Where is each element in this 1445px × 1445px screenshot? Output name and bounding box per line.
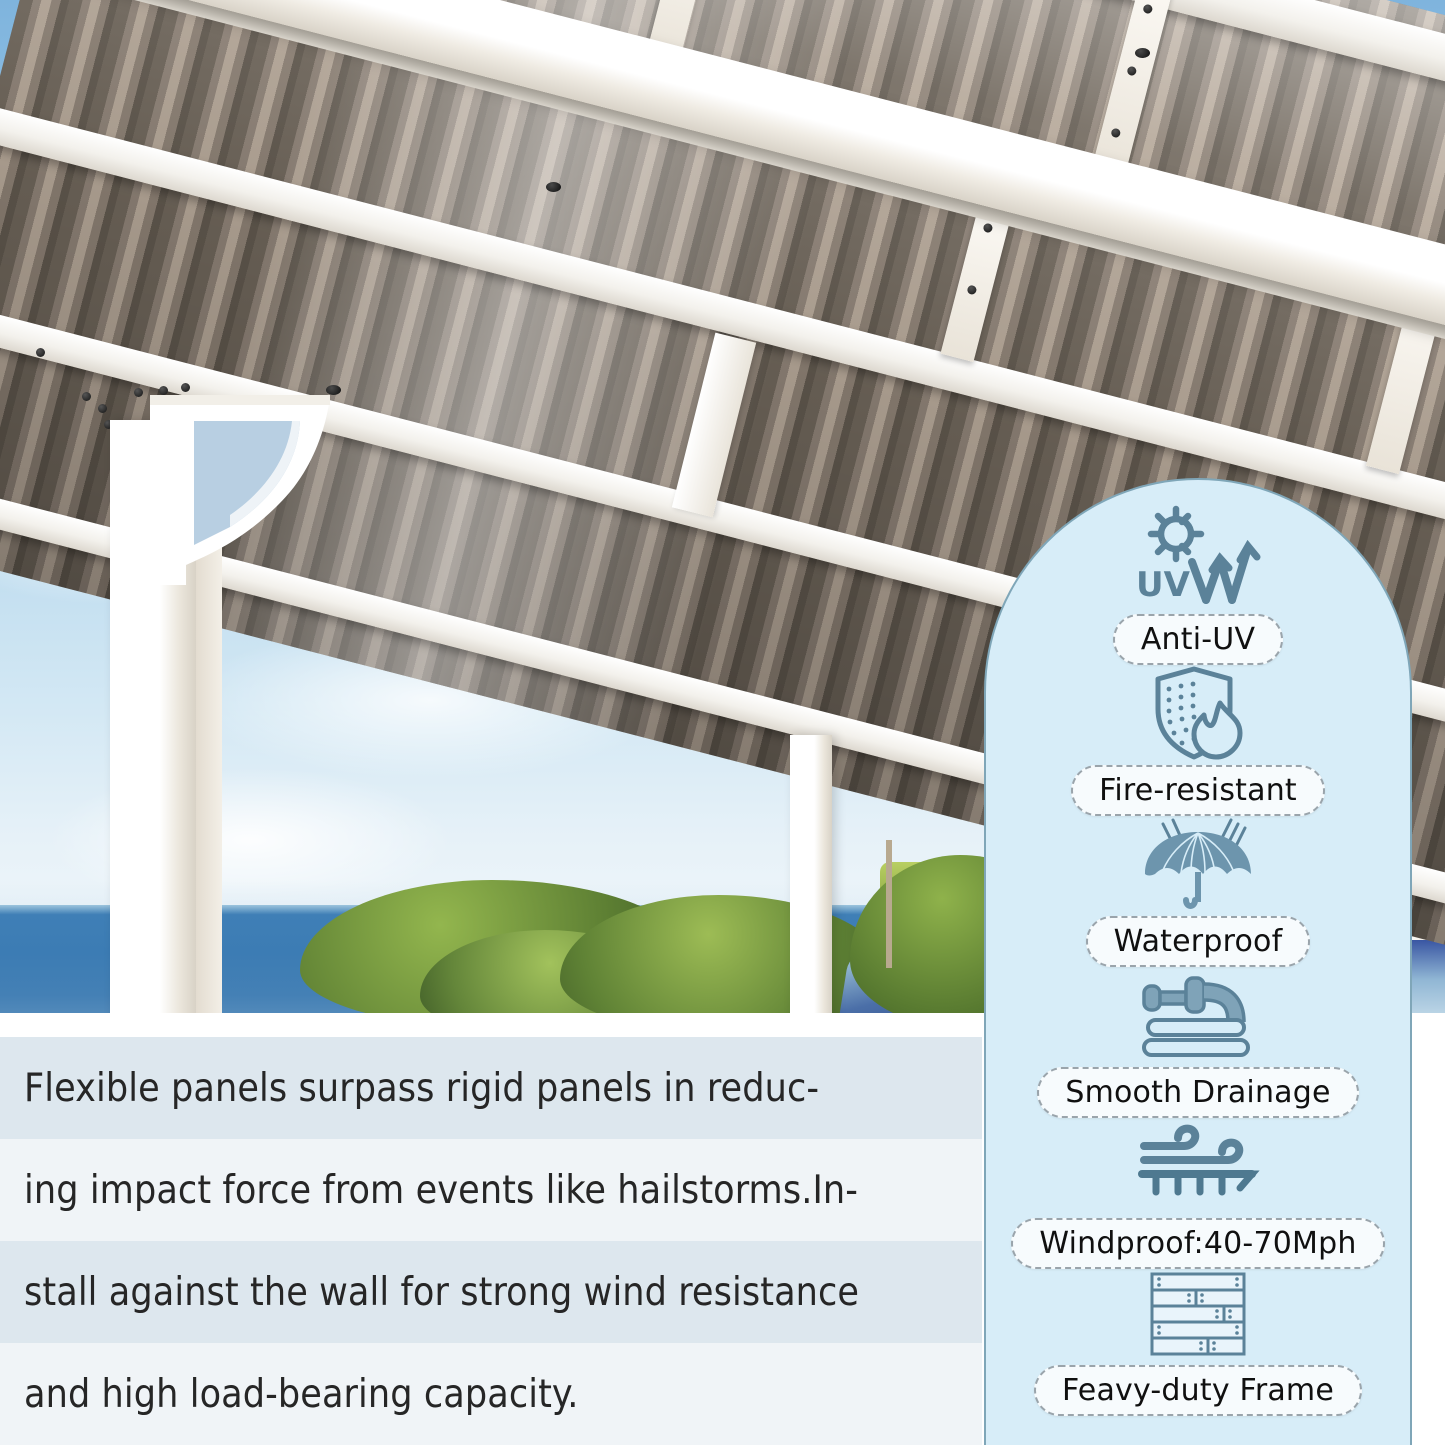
feature-label-pill: Feavy-duty Frame: [1034, 1365, 1362, 1416]
feature-smooth-drainage: Smooth Drainage: [986, 967, 1410, 1118]
feature-fire-resistant: Fire-resistant: [986, 665, 1410, 816]
feature-label: Fire-resistant: [1099, 773, 1297, 808]
feature-label: Feavy-duty Frame: [1062, 1373, 1334, 1408]
fascia-bolt: [82, 392, 91, 401]
description-line-text: Flexible panels surpass rigid panels in …: [24, 1066, 819, 1111]
fascia-bolt: [181, 383, 190, 392]
fascia-bolt: [1135, 48, 1150, 58]
corner-brace: [150, 395, 370, 585]
description-line: Flexible panels surpass rigid panels in …: [0, 1037, 982, 1139]
fire-resistant-shield-flame-icon: [1136, 665, 1260, 761]
description-line: stall against the wall for strong wind r…: [0, 1241, 982, 1343]
heavy-duty-frame-beams-icon: [1146, 1269, 1250, 1361]
description-line: ing impact force from events like hailst…: [0, 1139, 982, 1241]
waterproof-umbrella-rain-icon: [1133, 816, 1263, 912]
feature-label-pill: Smooth Drainage: [1037, 1067, 1358, 1118]
fascia-bolt: [134, 388, 143, 397]
anti-uv-sun-arrows-icon: UV: [1128, 502, 1268, 610]
feature-label: Windproof:40-70Mph: [1039, 1226, 1356, 1261]
fascia-bolt: [36, 348, 45, 357]
windproof-wind-lines-icon: [1134, 1118, 1262, 1214]
description-line-text: ing impact force from events like hailst…: [24, 1168, 858, 1213]
description-panel: Flexible panels surpass rigid panels in …: [0, 1037, 982, 1445]
description-line-text: stall against the wall for strong wind r…: [24, 1270, 859, 1315]
description-line-text: and high load-bearing capacity.: [24, 1372, 578, 1417]
feature-label: Waterproof: [1114, 924, 1283, 959]
feature-label-pill: Anti-UV: [1113, 614, 1283, 665]
fascia-bolt: [326, 385, 341, 395]
fascia-bolt: [159, 386, 168, 395]
svg-text:UV: UV: [1136, 565, 1191, 605]
feature-highlights-card: UV Anti-UV Fire-resistant: [984, 478, 1412, 1445]
feature-label-pill: Windproof:40-70Mph: [1011, 1218, 1384, 1269]
feature-label-pill: Fire-resistant: [1071, 765, 1325, 816]
support-post-mid: [790, 735, 832, 1013]
feature-waterproof: Waterproof: [986, 816, 1410, 967]
garden-pole: [886, 840, 892, 968]
smooth-drainage-faucet-hose-icon: [1136, 967, 1260, 1063]
fascia-bolt: [546, 182, 561, 192]
feature-label: Smooth Drainage: [1065, 1075, 1330, 1110]
feature-label-pill: Waterproof: [1086, 916, 1311, 967]
fascia-bolt: [98, 404, 107, 413]
feature-label: Anti-UV: [1141, 622, 1255, 657]
feature-windproof: Windproof:40-70Mph: [986, 1118, 1410, 1269]
feature-heavy-duty-frame: Feavy-duty Frame: [986, 1269, 1410, 1416]
description-line: and high load-bearing capacity.: [0, 1343, 982, 1445]
